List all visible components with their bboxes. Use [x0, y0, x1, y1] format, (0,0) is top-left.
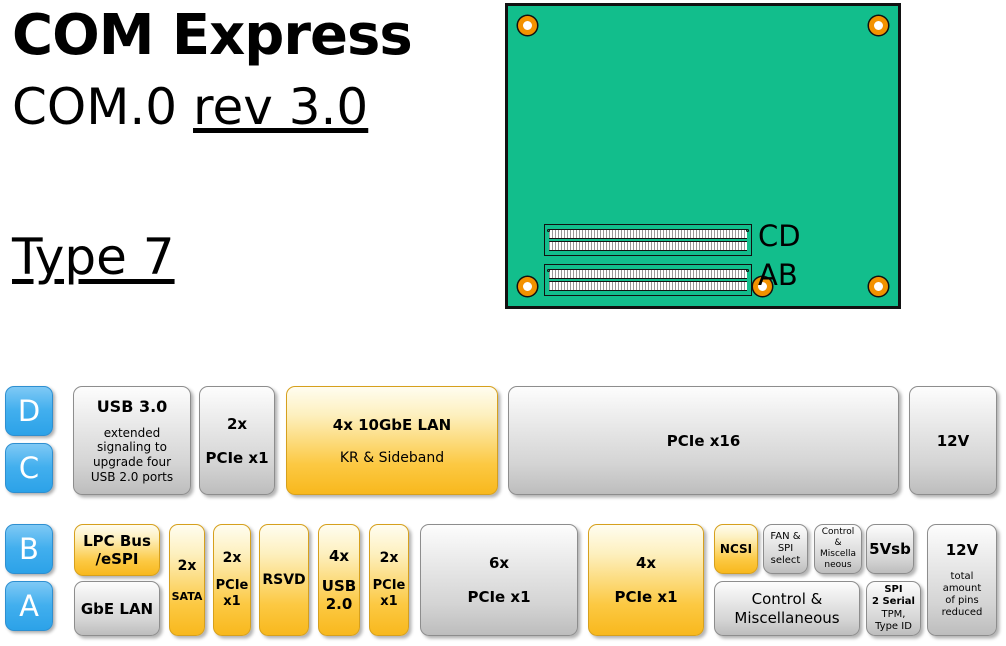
label-line: SPI: [770, 543, 800, 555]
label-line: x1: [373, 594, 406, 610]
block-ba-fan-spi-select-label: FAN & SPI select: [770, 531, 800, 568]
connector-cd-pinrow-top: [549, 229, 747, 239]
desc-line: signaling to: [91, 440, 173, 455]
block-ba-pcie-x1-4x[interactable]: 4x PCIe x1: [588, 524, 704, 636]
note-line: amount: [942, 583, 983, 595]
label-line: select: [770, 555, 800, 567]
block-ba-ncsi-label: NCSI: [720, 542, 752, 556]
block-ba-lpc-espi-label: LPC Bus /eSPI: [83, 532, 151, 569]
count: 2x: [380, 550, 399, 566]
block-ba-control-misc-wide-label: Control & Miscellaneous: [734, 590, 839, 627]
mounting-hole-top-right: [869, 16, 888, 35]
block-ba-rsvd-label: RSVD: [262, 572, 305, 588]
block-dc-pcie-x16[interactable]: PCIe x16: [508, 386, 899, 495]
spec-revision-value: rev 3.0: [193, 78, 368, 136]
label: PCIe x1: [373, 578, 406, 610]
connector-cd-key-left: [547, 229, 550, 232]
spec-revision-prefix: COM.0: [12, 78, 193, 136]
connector-ab-pinrow-top: [549, 269, 747, 279]
block-ba-control-misc-small[interactable]: Control & Miscella neous: [814, 524, 862, 574]
block-ba-spi-serial[interactable]: SPI 2 Serial TPM, Type ID: [866, 581, 921, 636]
note-line: total: [942, 571, 983, 583]
block-ba-sata-label: SATA: [172, 590, 203, 603]
mounting-hole-bottom-left: [518, 277, 537, 296]
row-badge-a: A: [5, 581, 53, 631]
note-line: reduced: [942, 607, 983, 619]
block-dc-pcie-x1-count: 2x: [227, 415, 247, 433]
mounting-hole-bottom-right: [869, 277, 888, 296]
connector-cd-label: CD: [758, 222, 801, 251]
block-dc-usb30-title: USB 3.0: [97, 397, 168, 416]
desc-line: upgrade four: [91, 455, 173, 470]
label-line: FAN &: [770, 531, 800, 543]
block-ba-5vsb-label: 5Vsb: [869, 540, 911, 558]
block-dc-10gbe-lan-title: 4x 10GbE LAN: [333, 416, 451, 434]
block-ba-usb20[interactable]: 4x USB 2.0: [318, 524, 360, 636]
block-ba-sata-count: 2x: [178, 558, 197, 574]
block-ba-pcie-x1-2x-b[interactable]: 2x PCIe x1: [369, 524, 409, 636]
block-ba-sata[interactable]: 2x SATA: [169, 524, 205, 636]
count: 2x: [223, 550, 242, 566]
block-ba-rsvd[interactable]: RSVD: [259, 524, 309, 636]
label-line: PCIe: [216, 578, 249, 594]
label-line: Type ID: [875, 621, 912, 633]
connector-cd: [544, 224, 752, 256]
connector-ab-pinrow-bottom: [549, 281, 747, 291]
count: 6x: [489, 554, 509, 572]
label-line: neous: [820, 560, 856, 571]
block-dc-usb30-desc: extended signaling to upgrade four USB 2…: [91, 426, 173, 485]
row-badge-d: D: [5, 386, 53, 436]
label-line: LPC Bus: [83, 532, 151, 550]
block-ba-12v[interactable]: 12V total amount of pins reduced: [927, 524, 997, 636]
label-line: 2 Serial: [872, 596, 915, 608]
desc-line: extended: [91, 426, 173, 441]
block-ba-pcie-x1-6x[interactable]: 6x PCIe x1: [420, 524, 578, 636]
label-line: PCIe: [373, 578, 406, 594]
block-dc-10gbe-lan-sub: KR & Sideband: [340, 450, 444, 466]
spec-revision-line: COM.0 rev 3.0: [12, 82, 368, 132]
block-dc-12v[interactable]: 12V: [909, 386, 997, 495]
label-line: USB: [322, 577, 356, 595]
label: PCIe x1: [216, 578, 249, 610]
row-badge-b: B: [5, 524, 53, 574]
block-dc-12v-title: 12V: [937, 432, 969, 450]
label-line: Control: [820, 527, 856, 538]
block-ba-gbe-lan-label: GbE LAN: [81, 600, 153, 618]
block-ba-ncsi[interactable]: NCSI: [714, 524, 758, 574]
row-badge-c: C: [5, 443, 53, 493]
block-dc-pcie-x1[interactable]: 2x PCIe x1: [199, 386, 275, 495]
block-ba-pcie-x1-2x-a[interactable]: 2x PCIe x1: [213, 524, 251, 636]
connector-row-ba: B A LPC Bus /eSPI GbE LAN 2x SATA 2x PCI…: [0, 518, 1006, 640]
label-line: /eSPI: [83, 550, 151, 568]
label: PCIe x1: [614, 588, 677, 606]
label-line: x1: [216, 594, 249, 610]
block-ba-5vsb[interactable]: 5Vsb: [866, 524, 914, 574]
block-dc-pcie-x16-title: PCIe x16: [667, 432, 741, 450]
block-ba-gbe-lan[interactable]: GbE LAN: [74, 581, 160, 636]
block-ba-control-misc-wide[interactable]: Control & Miscellaneous: [714, 581, 860, 636]
block-ba-fan-spi-select[interactable]: FAN & SPI select: [763, 524, 808, 574]
title-block: COM Express COM.0 rev 3.0 Type 7: [8, 0, 478, 330]
block-ba-spi-serial-title: SPI 2 Serial: [872, 584, 915, 608]
label: USB 2.0: [322, 577, 356, 614]
block-dc-usb30[interactable]: USB 3.0 extended signaling to upgrade fo…: [73, 386, 191, 495]
mounting-hole-top-left: [518, 16, 537, 35]
block-ba-spi-serial-sub: TPM, Type ID: [875, 609, 912, 633]
block-ba-12v-title: 12V: [946, 541, 978, 559]
block-ba-12v-note: total amount of pins reduced: [942, 571, 983, 620]
block-ba-control-misc-small-label: Control & Miscella neous: [820, 527, 856, 571]
module-type-label: Type 7: [12, 232, 175, 282]
connector-ab-key-right: [746, 269, 749, 272]
block-dc-10gbe-lan[interactable]: 4x 10GbE LAN KR & Sideband: [286, 386, 498, 495]
label: PCIe x1: [467, 588, 530, 606]
note-line: of pins: [942, 595, 983, 607]
connector-cd-key-right: [746, 229, 749, 232]
label-line: Miscella: [820, 549, 856, 560]
label-line: Control &: [734, 590, 839, 608]
block-dc-pcie-x1-label: PCIe x1: [205, 449, 268, 467]
label-line: Miscellaneous: [734, 609, 839, 627]
desc-line: USB 2.0 ports: [91, 470, 173, 485]
label-line: &: [820, 538, 856, 549]
connector-ab-key-left: [547, 269, 550, 272]
count: 4x: [636, 554, 656, 572]
label-line: 2.0: [322, 595, 356, 613]
count: 4x: [329, 547, 349, 565]
connector-ab-label: AB: [758, 261, 798, 290]
connector-row-dc: D C USB 3.0 extended signaling to upgrad…: [0, 385, 1006, 497]
pcb-module-illustration: CD AB: [505, 3, 901, 309]
block-ba-lpc-espi[interactable]: LPC Bus /eSPI: [74, 524, 160, 576]
connector-cd-pinrow-bottom: [549, 241, 747, 251]
label-line: TPM,: [875, 609, 912, 621]
label-line: SPI: [872, 584, 915, 596]
page-title: COM Express: [12, 8, 412, 64]
connector-ab: [544, 264, 752, 296]
